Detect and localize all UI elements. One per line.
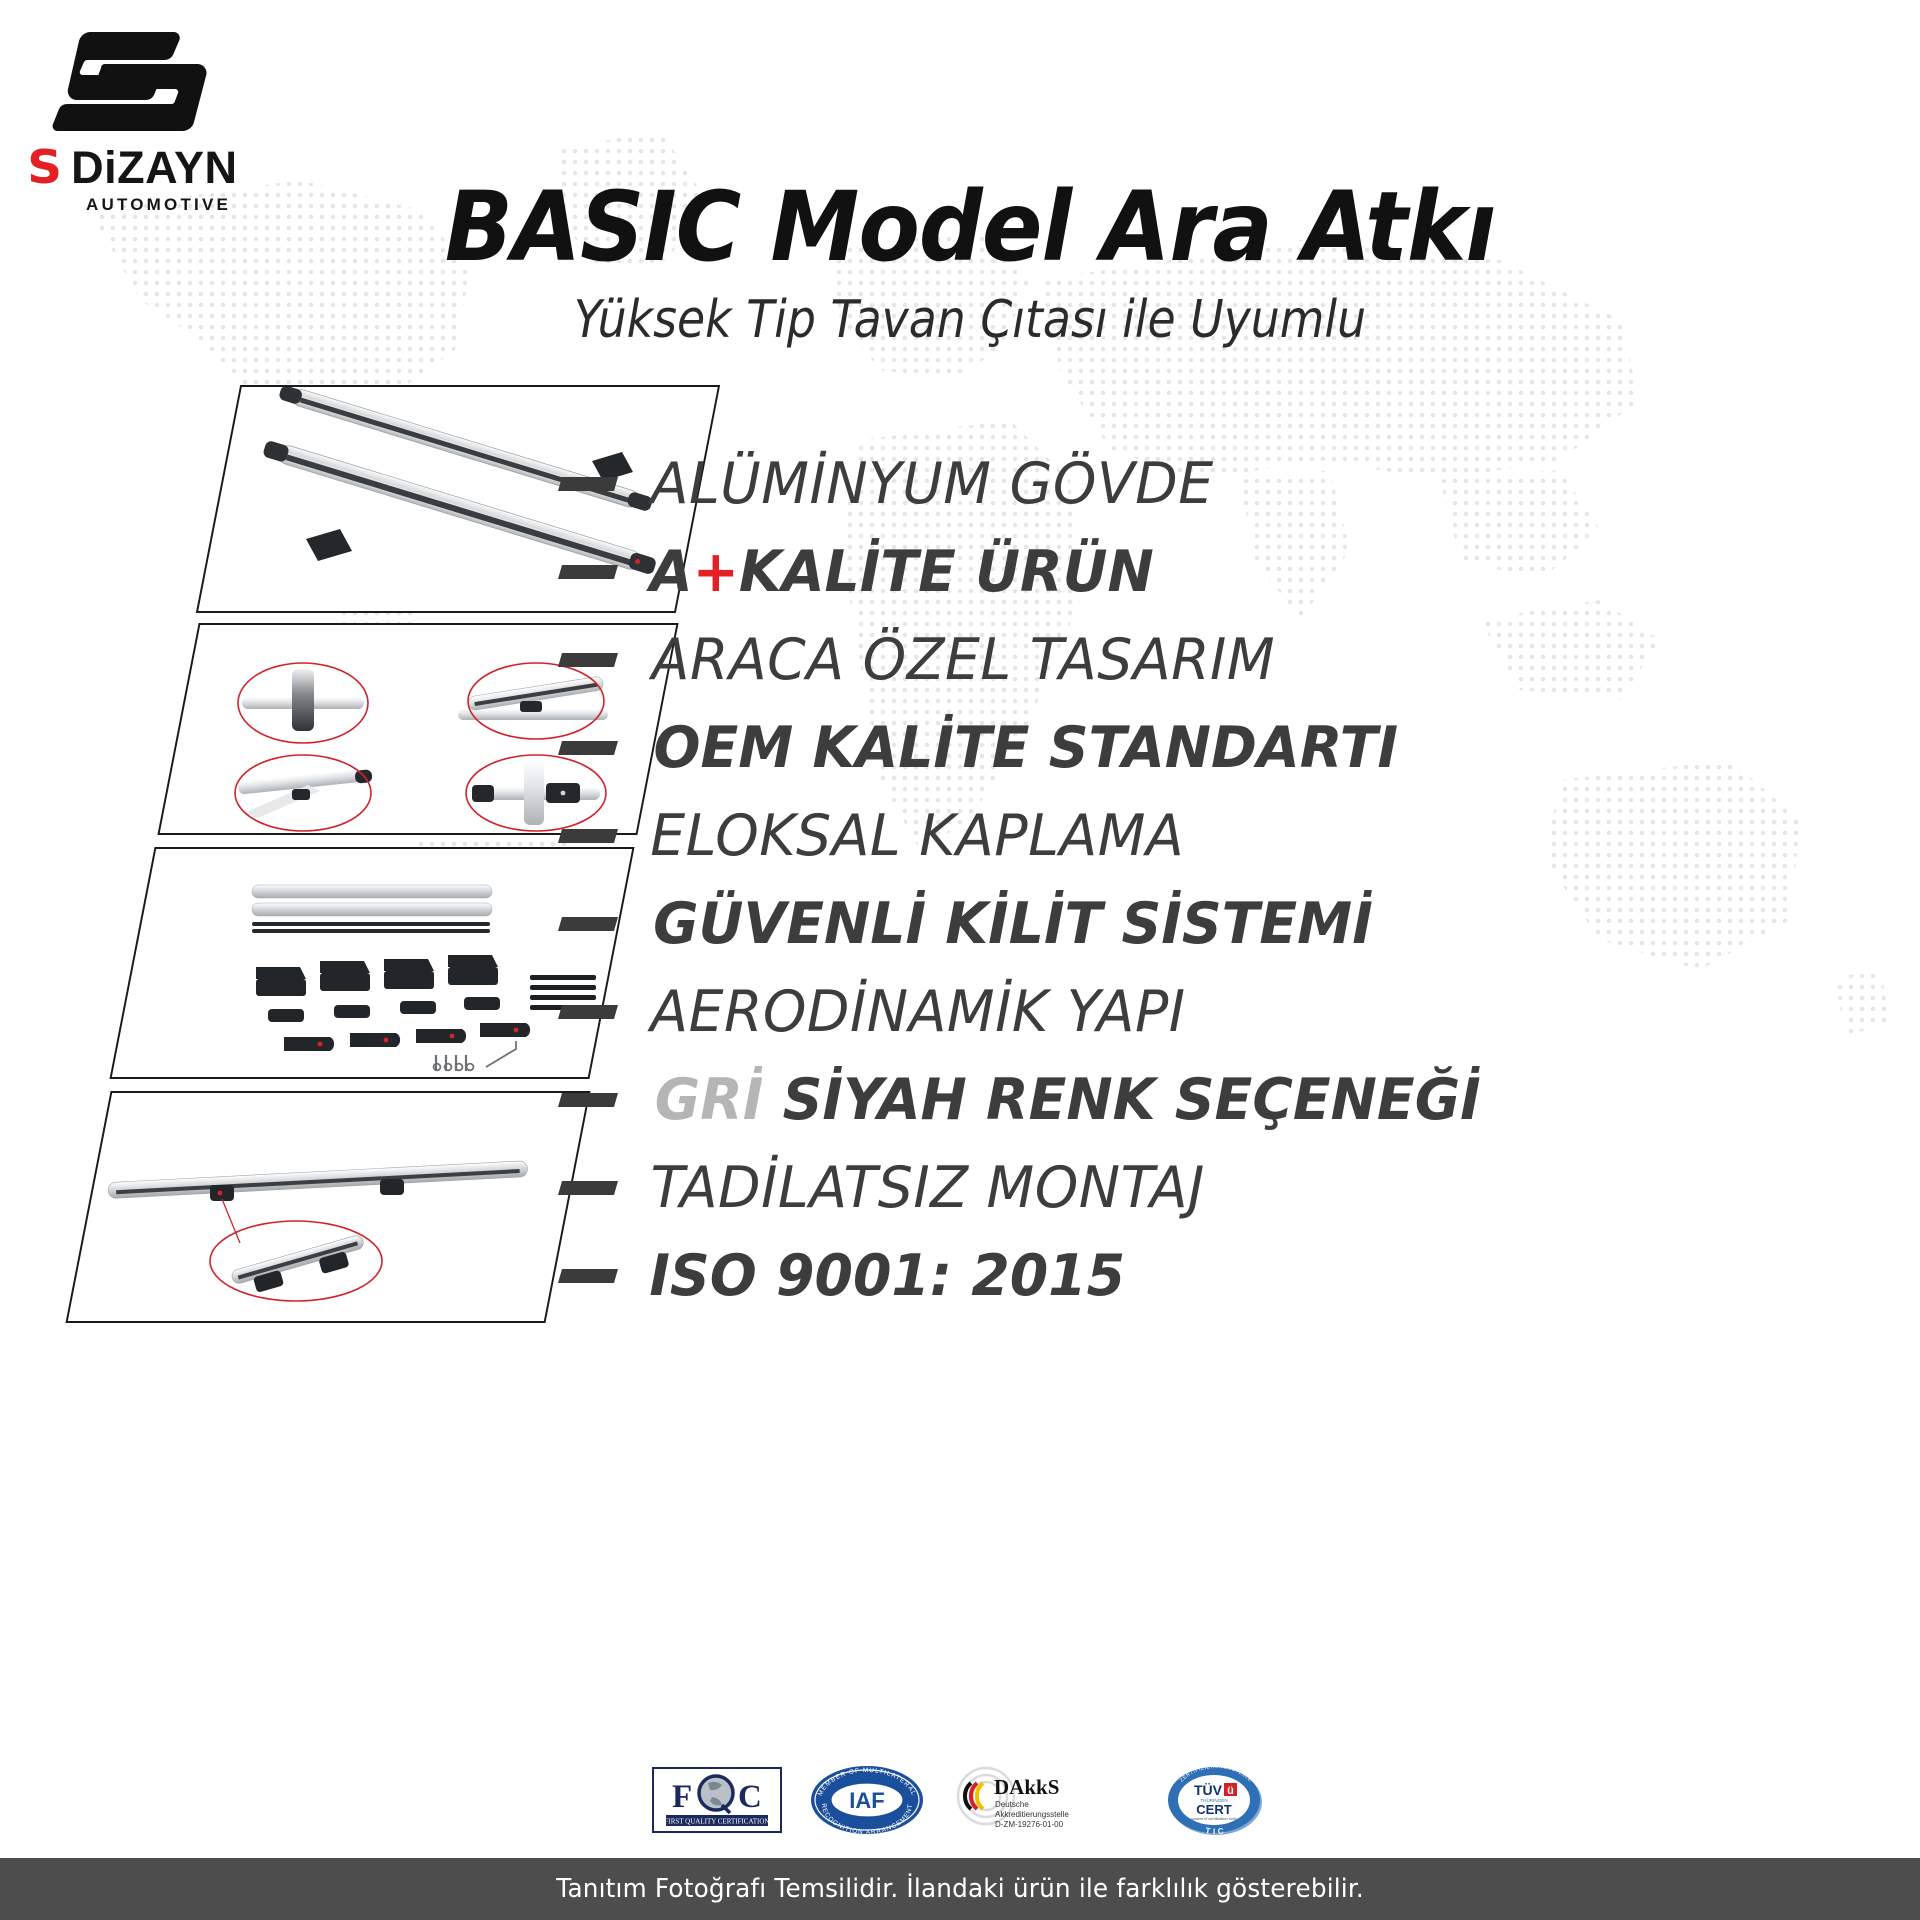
certification-badges: F Q C FIRST QUALITY CERTIFICATION IAF ME… — [0, 1762, 1920, 1838]
feature-row-iso-certificate: ISO 9001: 2015 — [560, 1232, 1890, 1320]
logo-accent-letter: S — [27, 144, 60, 190]
feature-label: TADİLATSIZ MONTAJ — [651, 1160, 1205, 1217]
cert-badge-dakks: DAkkS Deutsche Akkreditierungsstelle D-Z… — [952, 1766, 1138, 1834]
feature-label-muted: GRİ — [655, 1067, 764, 1133]
brand-logo: S DiZAYN AUTOMOTIVE — [22, 24, 302, 215]
svg-text:ü: ü — [1227, 1785, 1234, 1797]
feature-label-rest: KALİTE ÜRÜN — [739, 539, 1154, 605]
parts-kit-image — [134, 849, 614, 1079]
panel-installed-rail — [65, 1091, 590, 1323]
feature-label: GÜVENLİ KİLİT SİSTEMİ — [653, 896, 1373, 953]
header-block: BASIC Model Ara Atkı Yüksek Tip Tavan Çı… — [270, 176, 1670, 350]
feature-row-a-plus-quality: A+KALİTE ÜRÜN — [560, 528, 1890, 616]
feature-label: ARACA ÖZEL TASARIM — [652, 632, 1275, 689]
dash-bullet-icon — [558, 1093, 618, 1107]
feature-row-no-modification-install: TADİLATSIZ MONTAJ — [560, 1144, 1890, 1232]
svg-text:TIC: TIC — [1205, 1826, 1227, 1836]
dash-bullet-icon — [558, 477, 618, 491]
dash-bullet-icon — [558, 565, 618, 579]
feature-label: A+KALİTE ÜRÜN — [650, 544, 1154, 601]
dash-bullet-icon — [558, 741, 618, 755]
cert-dakks-line1: Deutsche — [995, 1800, 1029, 1809]
cert-dakks-label: DAkkS — [994, 1775, 1059, 1799]
feature-row-oem-quality-standard: OEM KALİTE STANDARTI — [560, 704, 1890, 792]
feature-row-vehicle-specific-design: ARACA ÖZEL TASARIM — [560, 616, 1890, 704]
dash-bullet-icon — [558, 1181, 618, 1195]
feature-label-a: A — [650, 539, 693, 605]
feature-row-aluminum-body: ALÜMİNYUM GÖVDE — [560, 440, 1890, 528]
cert-badge-fqc: F Q C FIRST QUALITY CERTIFICATION — [652, 1767, 782, 1833]
dash-bullet-icon — [558, 1005, 618, 1019]
feature-label: GRİ SİYAH RENK SEÇENEĞİ — [655, 1072, 1481, 1129]
feature-label: AERODİNAMİK YAPI — [650, 984, 1185, 1041]
feature-row-color-options: GRİ SİYAH RENK SEÇENEĞİ — [560, 1056, 1890, 1144]
s-dizayn-logo-mark — [22, 24, 222, 132]
page-subtitle: Yüksek Tip Tavan Çıtası ile Uyumlu — [354, 290, 1586, 350]
svg-text:F: F — [672, 1779, 692, 1815]
cert-dakks-line2: Akkreditierungsstelle — [995, 1810, 1069, 1819]
cert-badge-iaf: IAF MEMBER OF MULTILATERAL RECOGNITION A… — [808, 1764, 926, 1836]
cert-badge-tuv: TÜV ü THÜRINGEN CERT system of certifica… — [1164, 1762, 1268, 1838]
dash-bullet-icon — [558, 1269, 618, 1283]
logo-brand-name: DiZAYN — [71, 145, 237, 190]
feature-row-secure-lock-system: GÜVENLİ KİLİT SİSTEMİ — [560, 880, 1890, 968]
disclaimer-bar: Tanıtım Fotoğrafı Temsilidir. İlandaki ü… — [0, 1858, 1920, 1920]
feature-label: OEM KALİTE STANDARTI — [654, 720, 1399, 777]
cert-tuv-bottom: TIC — [1205, 1826, 1227, 1836]
feature-list: ALÜMİNYUM GÖVDE A+KALİTE ÜRÜN ARACA ÖZEL… — [560, 440, 1890, 1320]
feature-row-anodized-coating: ELOKSAL KAPLAMA — [560, 792, 1890, 880]
cert-fqc-sub: FIRST QUALITY CERTIFICATION — [665, 1818, 770, 1826]
panel-parts-kit — [109, 847, 634, 1079]
feature-row-aerodynamic-structure: AERODİNAMİK YAPI — [560, 968, 1890, 1056]
dash-bullet-icon — [558, 653, 618, 667]
cert-tuv-cert-sub: system of certification body — [1191, 1817, 1237, 1821]
installed-rail-image — [90, 1093, 570, 1323]
svg-text:C: C — [738, 1779, 762, 1815]
feature-accent-plus: + — [693, 539, 739, 605]
disclaimer-text: Tanıtım Fotoğrafı Temsilidir. İlandaki ü… — [556, 1874, 1364, 1904]
feature-label-rest: SİYAH RENK SEÇENEĞİ — [783, 1067, 1481, 1133]
cert-iaf-label: IAF — [849, 1788, 884, 1813]
cert-dakks-line3: D-ZM-19276-01-00 — [995, 1820, 1064, 1829]
feature-label: ALÜMİNYUM GÖVDE — [651, 456, 1214, 513]
cert-tuv-cert: CERT — [1196, 1802, 1231, 1817]
dash-bullet-icon — [558, 917, 618, 931]
cert-tuv-label: TÜV — [1194, 1782, 1223, 1798]
dash-bullet-icon — [558, 829, 618, 843]
feature-label: ELOKSAL KAPLAMA — [650, 808, 1184, 865]
feature-label: ISO 9001: 2015 — [649, 1248, 1125, 1305]
page-title: BASIC Model Ara Atkı — [319, 176, 1621, 280]
